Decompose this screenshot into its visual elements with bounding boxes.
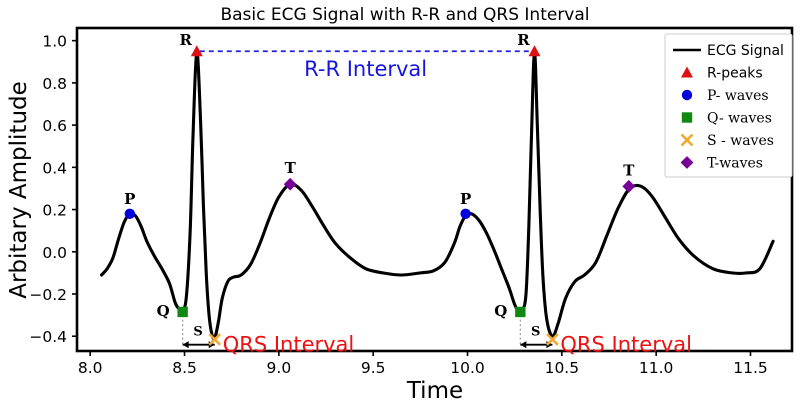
y-tick-group: 1.00.80.60.40.20.0−0.2−0.4 <box>29 33 77 347</box>
x-tick-label: 9.0 <box>267 359 292 377</box>
legend-item-label: S - waves <box>707 133 774 149</box>
y-axis-label: Arbitary Amplitude <box>6 81 32 299</box>
qrs-interval-label: QRS Interval <box>223 333 355 357</box>
qrs-arrow-head-left <box>183 341 189 348</box>
x-tick-label: 10.5 <box>545 359 580 377</box>
legend-item-label: Q- waves <box>707 111 772 127</box>
y-tick-label: −0.2 <box>29 286 67 304</box>
legend-marker-circle-icon <box>682 90 692 100</box>
y-tick-label: 0.6 <box>42 117 67 135</box>
marker-group <box>125 45 636 345</box>
point-label-s: S <box>193 324 202 339</box>
q-wave-marker <box>177 307 187 317</box>
point-label-p: P <box>124 190 135 208</box>
chart-title: Basic ECG Signal with R-R and QRS Interv… <box>220 5 589 25</box>
r-peak-marker <box>528 45 540 56</box>
qrs-interval-label: QRS Interval <box>560 333 692 357</box>
qrs-arrow-head-left <box>520 341 526 348</box>
legend-item-label: P- waves <box>707 88 769 104</box>
p-wave-marker <box>460 209 470 219</box>
legend-item-label: T-waves <box>707 156 763 172</box>
point-label-p: P <box>460 190 471 208</box>
point-label-t: T <box>623 161 635 179</box>
x-tick-label: 10.0 <box>450 359 485 377</box>
legend-group[interactable]: ECG SignalR-peaksP- wavesQ- wavesS - wav… <box>665 34 792 177</box>
legend-item-label: ECG Signal <box>707 43 784 59</box>
point-label-s: S <box>531 324 540 339</box>
chart-canvas: Basic ECG Signal with R-R and QRS Interv… <box>0 0 810 402</box>
legend-marker-square-icon <box>682 112 692 122</box>
y-tick-label: 0.8 <box>42 75 67 93</box>
point-label-r: R <box>517 31 530 49</box>
x-tick-label: 8.0 <box>78 359 103 377</box>
y-tick-label: 0.0 <box>42 244 67 262</box>
point-label-t: T <box>285 159 297 177</box>
x-tick-label: 11.0 <box>639 359 674 377</box>
x-tick-label: 8.5 <box>172 359 197 377</box>
x-axis-label: Time <box>406 378 463 402</box>
annotation-group: R-R IntervalQRS IntervalQRS Interval <box>183 51 692 356</box>
rr-interval-label: R-R Interval <box>304 57 427 81</box>
point-label-q: Q <box>494 302 507 320</box>
y-tick-label: 0.4 <box>42 159 67 177</box>
x-tick-label: 11.5 <box>733 359 768 377</box>
p-wave-marker <box>125 209 135 219</box>
y-tick-label: 0.2 <box>42 202 67 220</box>
q-wave-marker <box>515 307 525 317</box>
y-tick-label: 1.0 <box>42 33 67 51</box>
point-label-q: Q <box>157 302 170 320</box>
point-label-r: R <box>180 31 193 49</box>
legend-item-label: R-peaks <box>707 66 763 82</box>
ecg-chart-figure: Basic ECG Signal with R-R and QRS Interv… <box>0 0 810 402</box>
y-tick-label: −0.4 <box>29 328 67 346</box>
t-wave-marker <box>622 180 635 193</box>
x-tick-label: 9.5 <box>361 359 386 377</box>
